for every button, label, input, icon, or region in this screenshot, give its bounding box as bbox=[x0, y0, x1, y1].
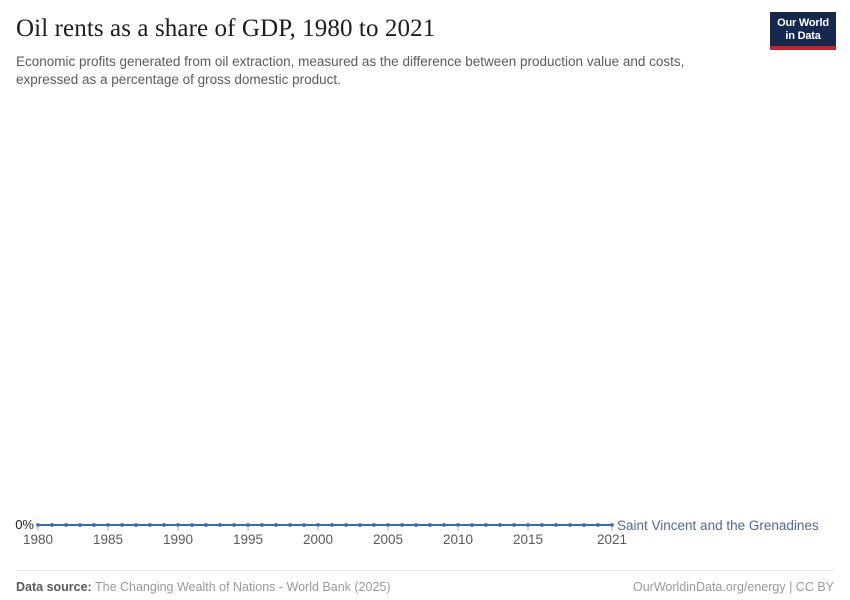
x-tick-label-1990: 1990 bbox=[163, 532, 193, 547]
data-point[interactable] bbox=[204, 523, 208, 527]
data-point[interactable] bbox=[358, 523, 362, 527]
data-point[interactable] bbox=[302, 523, 306, 527]
data-point[interactable] bbox=[134, 523, 138, 527]
data-point[interactable] bbox=[162, 523, 166, 527]
data-point[interactable] bbox=[596, 523, 600, 527]
x-tick-label-2000: 2000 bbox=[303, 532, 333, 547]
data-point[interactable] bbox=[568, 523, 572, 527]
plot-area[interactable]: 0% 198019851990199520002005201020152021 … bbox=[0, 89, 850, 570]
data-point[interactable] bbox=[120, 523, 124, 527]
line-chart-svg[interactable]: 0% 198019851990199520002005201020152021 … bbox=[0, 89, 850, 549]
data-point[interactable] bbox=[484, 523, 488, 527]
data-point[interactable] bbox=[330, 523, 334, 527]
data-point[interactable] bbox=[232, 523, 236, 527]
data-point[interactable] bbox=[372, 523, 376, 527]
data-point[interactable] bbox=[274, 523, 278, 527]
data-point[interactable] bbox=[288, 523, 292, 527]
data-point[interactable] bbox=[512, 523, 516, 527]
data-point[interactable] bbox=[344, 523, 348, 527]
data-point[interactable] bbox=[218, 523, 222, 527]
chart-subtitle: Economic profits generated from oil extr… bbox=[16, 53, 716, 89]
page-title: Oil rents as a share of GDP, 1980 to 202… bbox=[16, 14, 834, 44]
data-source-value: The Changing Wealth of Nations - World B… bbox=[95, 580, 391, 594]
x-tick-label-1985: 1985 bbox=[93, 532, 123, 547]
data-point[interactable] bbox=[498, 523, 502, 527]
data-point[interactable] bbox=[442, 523, 446, 527]
owid-logo-line-1: Our World bbox=[774, 17, 832, 30]
data-point[interactable] bbox=[540, 523, 544, 527]
owid-logo-line-2: in Data bbox=[774, 30, 832, 43]
data-point[interactable] bbox=[428, 523, 432, 527]
x-tick-label-2010: 2010 bbox=[443, 532, 473, 547]
attribution-link[interactable]: OurWorldinData.org/energy | CC BY bbox=[633, 580, 834, 594]
data-point[interactable] bbox=[554, 523, 558, 527]
chart-header: Oil rents as a share of GDP, 1980 to 202… bbox=[0, 0, 850, 89]
data-point[interactable] bbox=[414, 523, 418, 527]
data-source-label: Data source: bbox=[16, 580, 92, 594]
y-tick-label-0: 0% bbox=[15, 517, 34, 532]
data-point[interactable] bbox=[260, 523, 264, 527]
x-tick-label-1980: 1980 bbox=[23, 532, 53, 547]
owid-logo[interactable]: Our World in Data bbox=[770, 12, 836, 50]
data-point[interactable] bbox=[148, 523, 152, 527]
owid-chart: Oil rents as a share of GDP, 1980 to 202… bbox=[0, 0, 850, 600]
data-point[interactable] bbox=[400, 523, 404, 527]
x-tick-label-2015: 2015 bbox=[513, 532, 543, 547]
x-tick-label-1995: 1995 bbox=[233, 532, 263, 547]
x-tick-label-2021: 2021 bbox=[597, 532, 627, 547]
data-point[interactable] bbox=[470, 523, 474, 527]
data-point[interactable] bbox=[92, 523, 96, 527]
series-group-saint-vincent-and-the-grenadines bbox=[36, 523, 614, 527]
data-source: Data source: The Changing Wealth of Nati… bbox=[16, 580, 391, 594]
data-point[interactable] bbox=[190, 523, 194, 527]
x-axis-ticks bbox=[38, 526, 612, 531]
data-point[interactable] bbox=[582, 523, 586, 527]
series-label-saint-vincent-and-the-grenadines[interactable]: Saint Vincent and the Grenadines bbox=[617, 518, 819, 533]
data-point[interactable] bbox=[64, 523, 68, 527]
data-point[interactable] bbox=[78, 523, 82, 527]
x-tick-label-2005: 2005 bbox=[373, 532, 403, 547]
x-axis-labels: 198019851990199520002005201020152021 bbox=[23, 532, 627, 547]
chart-footer: Data source: The Changing Wealth of Nati… bbox=[16, 570, 834, 600]
data-point[interactable] bbox=[50, 523, 54, 527]
